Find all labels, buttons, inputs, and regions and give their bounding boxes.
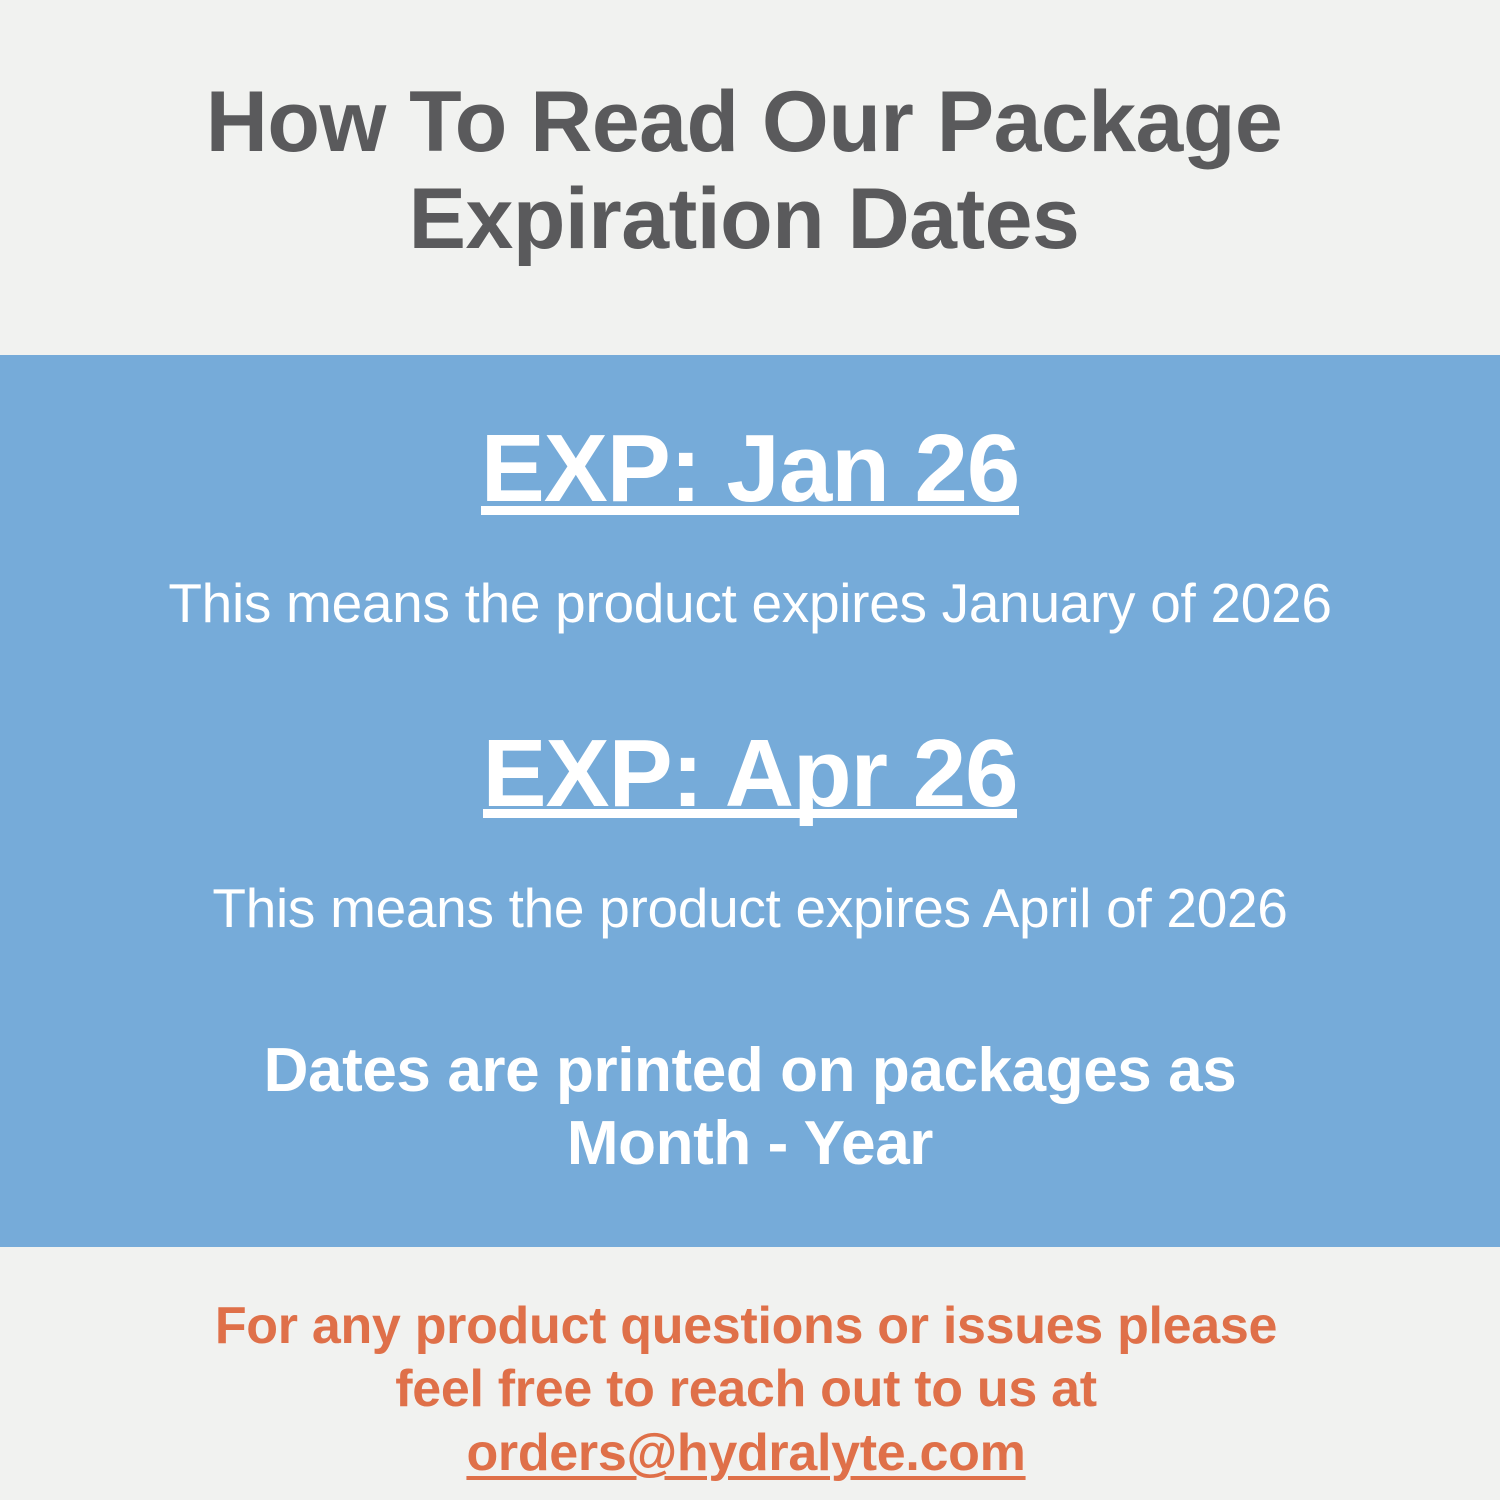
page-title: How To Read Our Package Expiration Dates xyxy=(206,74,1283,267)
exp-example-1: EXP: Jan 26 xyxy=(481,421,1020,537)
footer-section: For any product questions or issues plea… xyxy=(0,1247,1500,1500)
exp-explanation-jan: This means the product expires January o… xyxy=(168,573,1331,634)
date-format-statement: Dates are printed on packages as Month -… xyxy=(264,1034,1237,1180)
expiration-date-infographic: How To Read Our Package Expiration Dates… xyxy=(0,0,1500,1500)
blue-band-section: EXP: Jan 26 This means the product expir… xyxy=(0,355,1500,1247)
exp-code-apr: EXP: Apr 26 xyxy=(483,726,1018,822)
exp-explanation-apr: This means the product expires April of … xyxy=(212,878,1287,939)
exp-code-jan: EXP: Jan 26 xyxy=(481,421,1020,517)
contact-email-link[interactable]: orders@hydralyte.com xyxy=(466,1422,1025,1485)
contact-message: For any product questions or issues plea… xyxy=(215,1295,1277,1422)
header-section: How To Read Our Package Expiration Dates xyxy=(0,0,1500,355)
exp-example-2: EXP: Apr 26 xyxy=(483,726,1018,842)
